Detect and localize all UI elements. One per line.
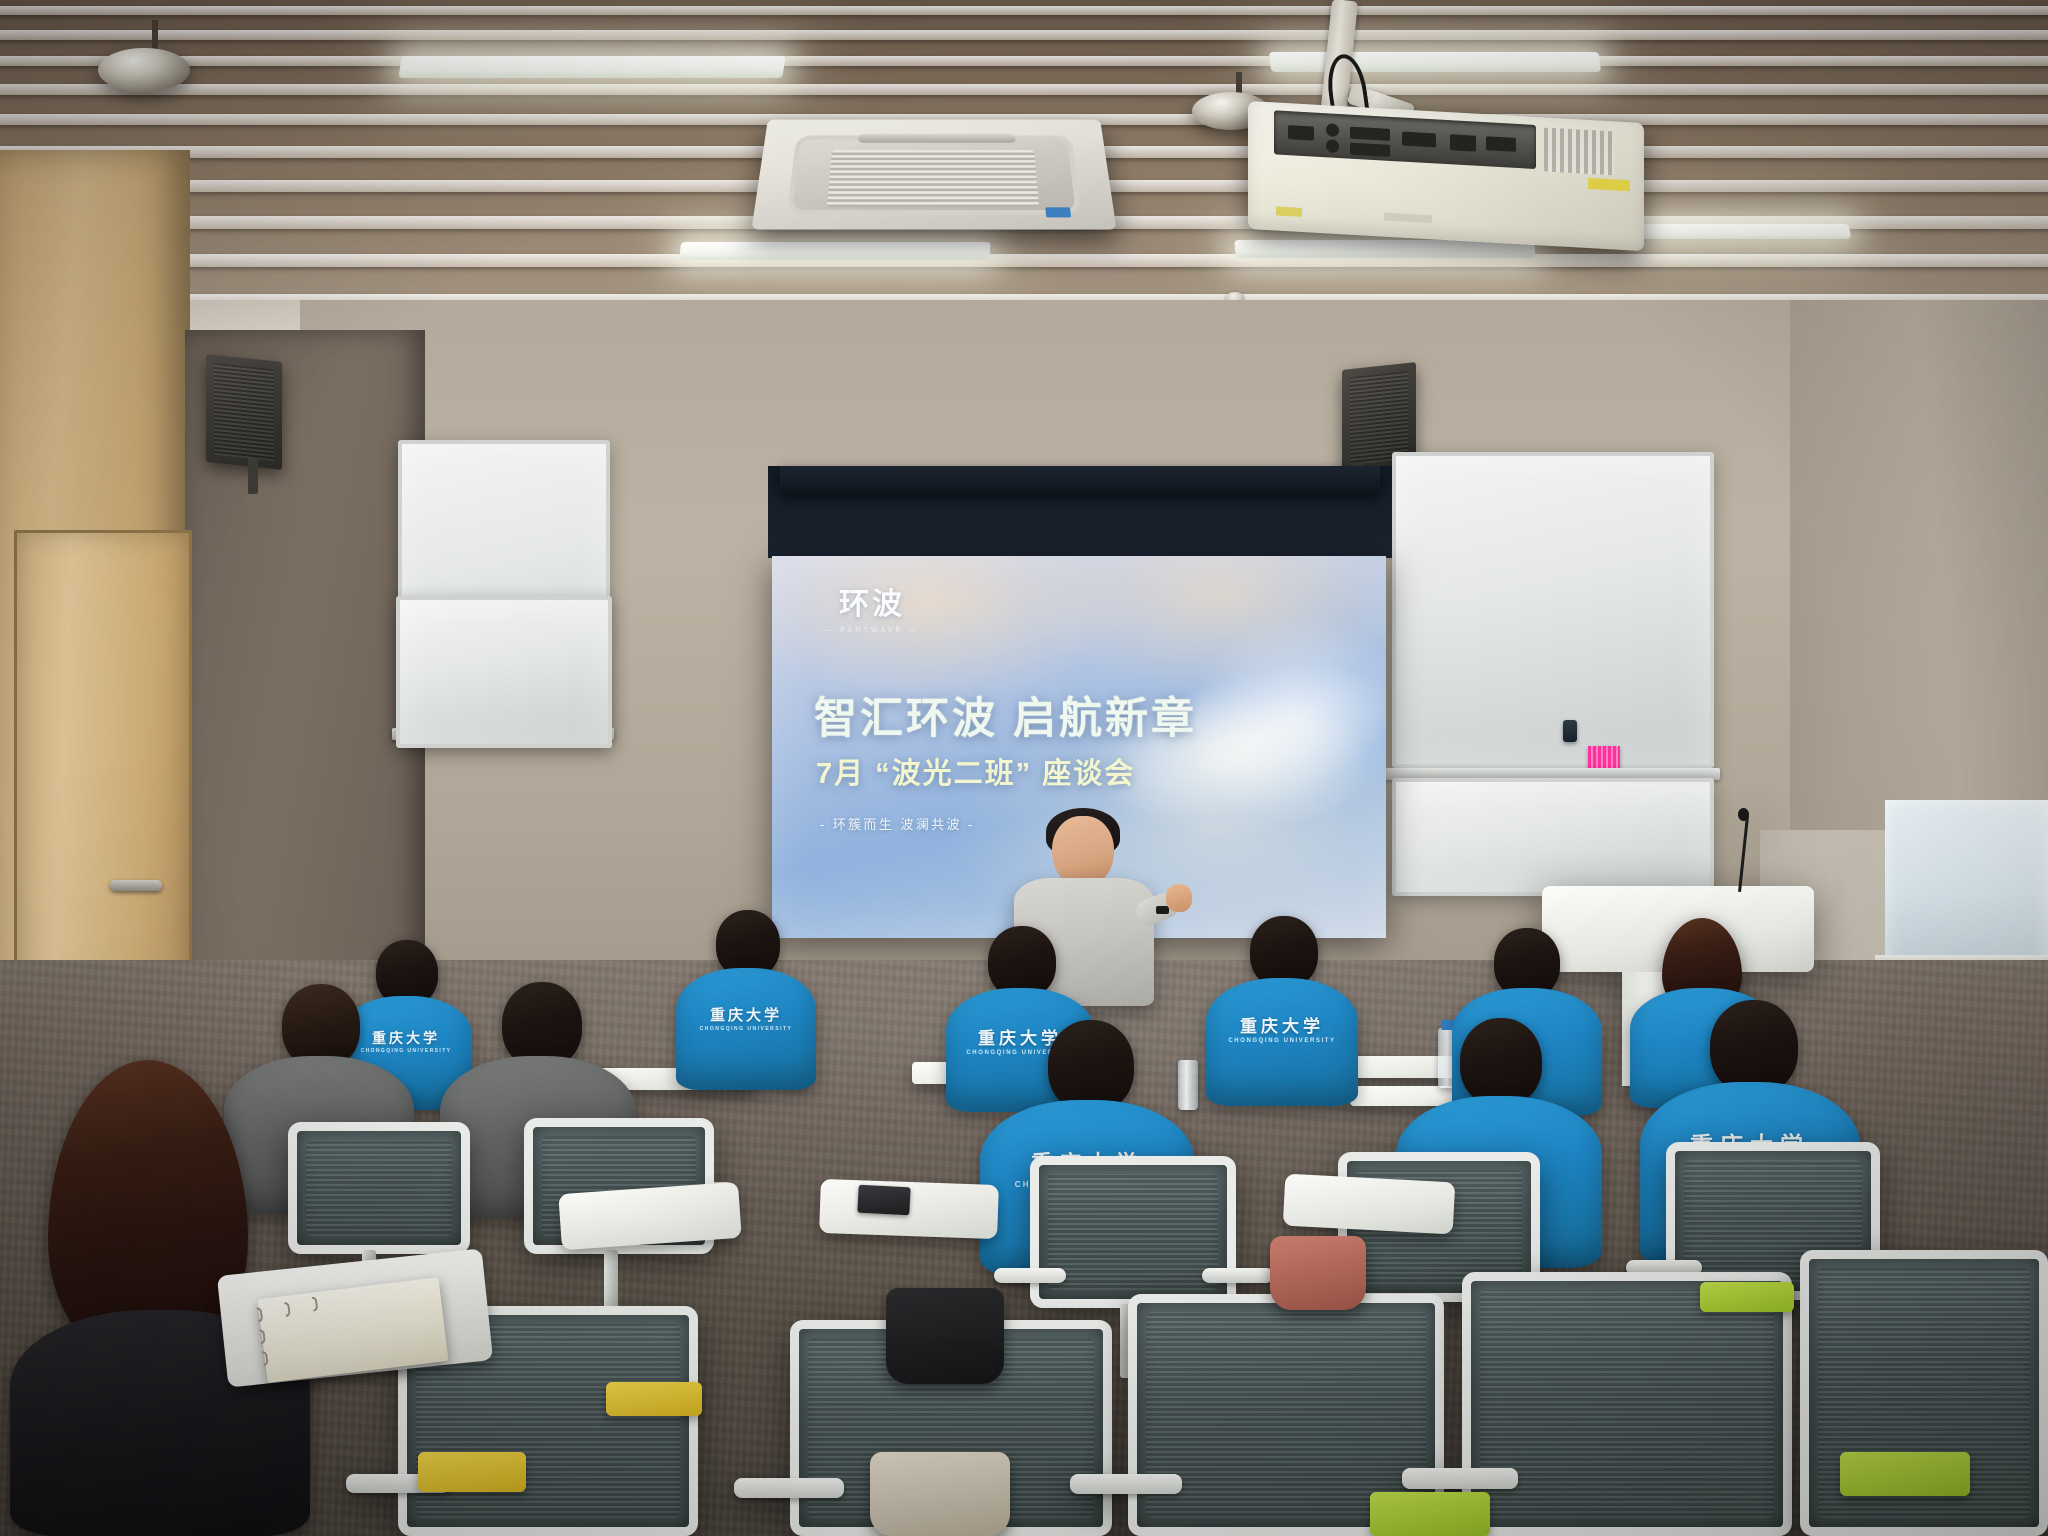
head xyxy=(1048,1020,1134,1112)
linear-light-panel xyxy=(1234,240,1536,258)
tote-bag[interactable] xyxy=(1270,1236,1366,1310)
polo-text-en: CHONGQING UNIVERSITY xyxy=(676,1026,816,1032)
window xyxy=(1885,800,2048,980)
wall-speaker-left xyxy=(206,354,282,470)
whiteboard-right[interactable] xyxy=(1392,452,1714,768)
torso-polo: 重庆大学 CHONGQING UNIVERSITY xyxy=(1206,978,1358,1106)
head xyxy=(1710,1000,1798,1094)
seat-cushion-green xyxy=(1700,1282,1794,1312)
classroom-photo-scene: 环波 — FANTWAVE — 智汇环波 启航新章 7月 “波光二班” 座谈会 … xyxy=(0,0,2048,1536)
slide-logo-cn: 环波 xyxy=(824,590,920,620)
head xyxy=(1460,1018,1542,1106)
seat-cushion-green xyxy=(1370,1492,1490,1536)
projector-io-panel xyxy=(1274,110,1536,169)
linear-light-panel xyxy=(1269,52,1601,72)
backpack[interactable] xyxy=(870,1452,1010,1536)
smartphone[interactable] xyxy=(857,1185,910,1216)
slide-logo-en: — FANTWAVE — xyxy=(824,627,920,634)
slide-logo: 环波 — FANTWAVE — xyxy=(824,590,920,634)
backpack[interactable] xyxy=(886,1288,1004,1384)
chair[interactable] xyxy=(1030,1156,1236,1308)
screen-housing xyxy=(780,466,1380,494)
chair-arm xyxy=(734,1478,844,1498)
presenter-hand xyxy=(1166,884,1192,912)
whiteboard-center-left[interactable] xyxy=(396,596,612,748)
polo-text-en: CHONGQING UNIVERSITY xyxy=(1206,1038,1358,1044)
linear-light-panel xyxy=(398,56,785,78)
chair[interactable] xyxy=(288,1122,470,1254)
pendant-lamp-shade xyxy=(98,48,190,92)
seat-cushion-yellow xyxy=(418,1452,526,1492)
ac-louver xyxy=(858,134,1016,143)
slide-title: 智汇环波 启航新章 xyxy=(814,684,1197,746)
ac-grille xyxy=(827,150,1039,207)
presenter-watch xyxy=(1156,906,1169,914)
speaker-mount-left xyxy=(248,458,258,494)
ceiling-projector xyxy=(1248,101,1644,251)
chair-arm xyxy=(994,1268,1066,1283)
chair-arm xyxy=(1202,1268,1274,1283)
polo-text-cn: 重庆大学 xyxy=(1206,1012,1358,1037)
seat-cushion-green xyxy=(1840,1452,1970,1496)
audience-member: 重庆大学 CHONGQING UNIVERSITY xyxy=(1206,916,1358,1106)
torso-polo: 重庆大学 CHONGQING UNIVERSITY xyxy=(676,968,816,1090)
projector-vent xyxy=(1544,127,1614,175)
linear-light-panel xyxy=(1639,224,1851,239)
chair-arm xyxy=(1402,1468,1518,1489)
polo-text-cn: 重庆大学 xyxy=(676,1004,816,1025)
seat-cushion-yellow xyxy=(606,1382,702,1416)
microphone-icon xyxy=(1738,808,1749,821)
chair-arm xyxy=(1070,1474,1182,1494)
ac-brand-badge xyxy=(1045,207,1071,217)
audience-member: 重庆大学 CHONGQING UNIVERSITY xyxy=(676,910,816,1090)
door-handle[interactable] xyxy=(110,880,162,891)
whiteboard-magnet[interactable] xyxy=(1563,720,1577,742)
whiteboard-right-lower[interactable] xyxy=(1392,778,1714,896)
linear-light-panel xyxy=(679,242,991,260)
slide-subtitle: 7月 “波光二班” 座谈会 xyxy=(816,750,1135,792)
projector-warning-label xyxy=(1588,178,1630,191)
ceiling-ac-cassette xyxy=(751,120,1116,230)
slide-tagline: - 环簇而生 波澜共波 - xyxy=(820,814,975,833)
tablet-arm-desk[interactable] xyxy=(1283,1174,1455,1235)
projector-lens-hint xyxy=(1384,213,1432,224)
projector-serial-label xyxy=(1276,206,1302,216)
